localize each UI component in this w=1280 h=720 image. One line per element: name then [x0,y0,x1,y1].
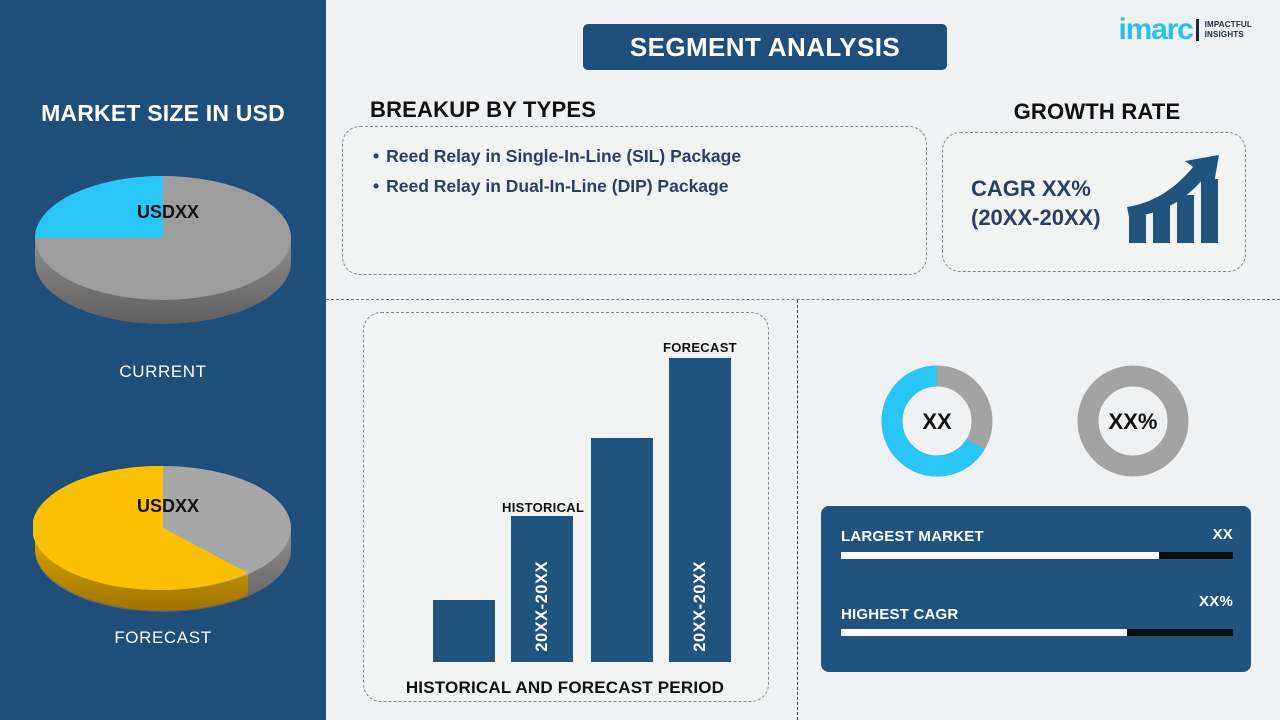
breakup-by-types-heading: BREAKUP BY TYPES [370,97,596,123]
logo-tagline-line2: INSIGHTS [1205,30,1252,40]
page-title: SEGMENT ANALYSIS [630,32,900,63]
bar-4-period-label: 20XX-20XX [691,561,710,652]
highest-cagr-donut: XX% [1076,364,1190,478]
highest-cagr-donut-value: XX% [1109,409,1158,434]
cagr-value: CAGR XX% [971,174,1101,203]
main-panel: SEGMENT ANALYSIS imarc IMPACTFUL INSIGHT… [326,0,1280,720]
stat-label: LARGEST MARKET [841,528,984,545]
logo-tagline-line1: IMPACTFUL [1205,20,1252,30]
stat-value: XX% [1199,593,1233,610]
logo-divider-icon [1196,19,1199,41]
stat-progress-fill [841,629,1127,636]
page-title-banner: SEGMENT ANALYSIS [583,24,947,70]
pie-current-caption: CURRENT [0,362,326,382]
cagr-text: CAGR XX% (20XX-20XX) [971,174,1101,232]
bar-chart-axis-label: HISTORICAL AND FORECAST PERIOD [363,678,767,698]
stat-label: HIGHEST CAGR [841,606,958,623]
imarc-logo: imarc IMPACTFUL INSIGHTS [1119,13,1252,47]
market-size-current-block: USDXX CURRENT [0,150,326,330]
bar-4: 20XX-20XX [669,358,731,662]
stat-progress-track [841,552,1233,559]
logo-tagline: IMPACTFUL INSIGHTS [1205,20,1252,40]
sidebar-title: MARKET SIZE IN USD [0,100,326,127]
infographic-root: MARKET SIZE IN USD [0,0,1280,720]
horizontal-divider [326,299,1280,300]
bar-1 [433,600,495,662]
pie-current-svg: USDXX [33,150,293,330]
largest-market-donut-value: XX [922,409,952,434]
stats-card: LARGEST MARKET XX HIGHEST CAGR XX% [821,506,1251,672]
types-list: Reed Relay in Single-In-Line (SIL) Packa… [373,141,741,201]
bar-2-period-label: 20XX-20XX [533,561,552,652]
list-item: Reed Relay in Dual-In-Line (DIP) Package [373,171,741,201]
pie-forecast-svg: USDXX [33,440,293,620]
stat-progress-track [841,629,1233,636]
growth-rate-heading: GROWTH RATE [942,99,1252,125]
bar-historical-label: HISTORICAL [502,500,584,515]
cagr-period: (20XX-20XX) [971,203,1101,232]
bar-chart: HISTORICAL 20XX-20XX FORECAST 20XX-20XX … [363,312,767,700]
growth-arrow-bars-icon [1123,153,1223,249]
stat-progress-fill [841,552,1159,559]
vertical-divider [797,300,798,720]
largest-market-donut: XX [880,364,994,478]
breakup-by-types-box: Reed Relay in Single-In-Line (SIL) Packa… [342,126,927,275]
growth-rate-box: CAGR XX% (20XX-20XX) [942,132,1246,272]
pie-forecast-caption: FORECAST [0,628,326,648]
sidebar: MARKET SIZE IN USD [0,0,326,720]
stat-value: XX [1213,526,1233,543]
pie-forecast-value: USDXX [137,496,199,516]
logo-wordmark: imarc [1119,15,1193,45]
bar-3 [591,438,653,662]
pie-current-value: USDXX [137,202,199,222]
bar-2: 20XX-20XX [511,516,573,662]
market-size-forecast-block: USDXX FORECAST [0,440,326,620]
pie-chart-current: USDXX [0,150,326,330]
list-item: Reed Relay in Single-In-Line (SIL) Packa… [373,141,741,171]
bar-forecast-label: FORECAST [663,340,737,355]
pie-chart-forecast: USDXX [0,440,326,620]
